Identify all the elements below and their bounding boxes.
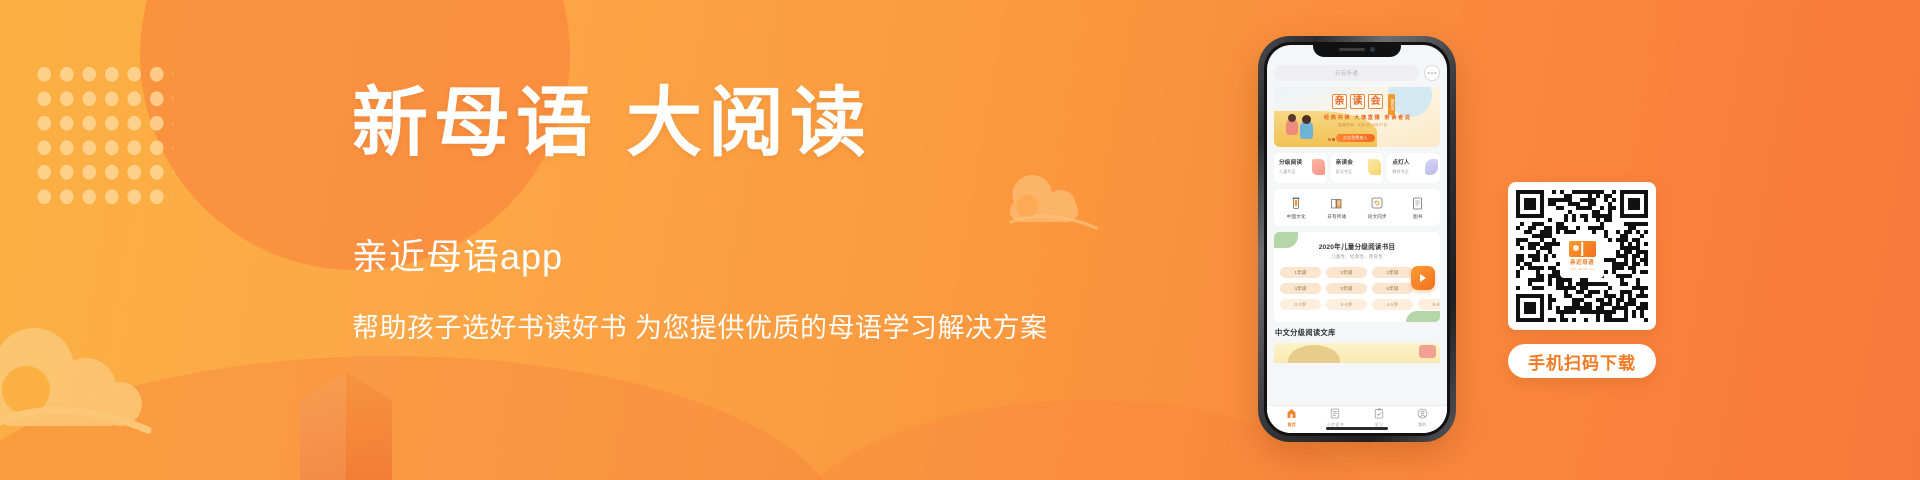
- category-card-parent-club[interactable]: 亲读会 家长专区: [1331, 153, 1384, 183]
- subtitle: 亲近母语app: [352, 228, 1048, 280]
- tagline: 帮助孩子选好书读好书 为您提供优质的母语学习解决方案: [352, 306, 1048, 345]
- quick-link-row: 中国文化 日有所诵: [1274, 189, 1440, 226]
- quick-link-label: 中国文化: [1287, 214, 1306, 220]
- library-card[interactable]: [1274, 343, 1440, 363]
- decorative-dot-grid: [33, 62, 173, 214]
- category-card-teacher[interactable]: 点灯人 教师专区: [1387, 153, 1440, 183]
- open-book-icon: [1330, 196, 1344, 210]
- tab-label: 首页: [1288, 422, 1296, 428]
- promo-banner: 新母语大阅读 亲近母语app 帮助孩子选好书读好书 为您提供优质的母语学习解决方…: [0, 0, 1920, 480]
- quick-link-chinese-culture[interactable]: 中国文化: [1276, 196, 1317, 220]
- age-chip[interactable]: 4-5岁: [1372, 299, 1413, 310]
- qr-logo-pinyin: QIN JIN MU YU: [1570, 267, 1594, 271]
- grade-chip[interactable]: 4年级: [1280, 283, 1321, 294]
- home-indicator: [1326, 427, 1388, 430]
- grade-chip[interactable]: 5年级: [1326, 283, 1367, 294]
- booklist-subtitle: 儿童性、经典性、教育性: [1280, 254, 1434, 260]
- hero-subtitle: 经典共读 大咖直播 亲读者说: [1324, 114, 1412, 121]
- library-card-badge: [1419, 345, 1436, 358]
- hero-title: 亲 读 会 第四季: [1332, 94, 1395, 115]
- tab-study[interactable]: 学习: [1357, 408, 1401, 428]
- hero-title-char-2: 读: [1350, 94, 1365, 109]
- list-icon: [1329, 408, 1341, 420]
- home-icon: [1286, 408, 1298, 420]
- hero-banner[interactable]: 亲 读 会 第四季 经典共读 大咖直播 亲读者说 直播时间：9月6日-9月27日…: [1274, 87, 1440, 147]
- library-section-title: 中文分级阅读文库: [1275, 328, 1440, 338]
- headline: 新母语大阅读: [352, 86, 1048, 162]
- hero-child-1: [1286, 119, 1298, 135]
- quick-link-label: 日有所诵: [1327, 214, 1346, 220]
- more-options-icon[interactable]: [1424, 65, 1440, 81]
- age-chip[interactable]: 0-3岁: [1280, 299, 1321, 310]
- decorative-hill-left: [0, 356, 840, 480]
- headline-part-1: 新母语: [352, 82, 598, 166]
- cloud-motif-bottom-left: [0, 326, 192, 446]
- category-cards: 分级阅读 儿童专区 亲读会 家长专区 点灯人 教师专区: [1274, 153, 1440, 183]
- hero-pager-dot-1: [1328, 138, 1331, 141]
- quick-link-books[interactable]: 图书: [1398, 196, 1439, 220]
- hero-title-char-3: 会: [1368, 94, 1383, 109]
- sync-icon: [1370, 196, 1384, 210]
- hero-pager-dot-2: [1332, 138, 1335, 141]
- decorative-cube: [300, 372, 392, 480]
- age-chip[interactable]: 5-6岁: [1418, 299, 1440, 310]
- tab-label: 我的: [1418, 422, 1426, 428]
- library-card-arc: [1288, 345, 1340, 363]
- hero-title-char-1: 亲: [1332, 94, 1347, 109]
- age-chip[interactable]: 3-4岁: [1326, 299, 1367, 310]
- user-icon: [1416, 408, 1428, 420]
- book-logo-icon: [1569, 241, 1596, 257]
- speaker-icon: [1339, 48, 1365, 51]
- tab-reading[interactable]: 小步读书: [1314, 408, 1358, 428]
- booklist-title: 2020年儿童分级阅读书目: [1280, 241, 1434, 251]
- scroll-icon: [1289, 196, 1303, 210]
- quick-link-textbook-sync[interactable]: 语文同步: [1357, 196, 1398, 220]
- qr-logo-name: 亲近母语: [1570, 258, 1594, 266]
- leaf-decor-bottom-right: [1406, 311, 1440, 322]
- phone-mockup: 日有所诵 亲 读 会 第四季: [1258, 36, 1456, 442]
- copy-block: 新母语大阅读 亲近母语app 帮助孩子选好书读好书 为您提供优质的母语学习解决方…: [352, 86, 1048, 345]
- card-decor-icon: [1425, 159, 1438, 175]
- grade-chip[interactable]: 6年级: [1372, 283, 1413, 294]
- search-placeholder: 日有所诵: [1335, 69, 1358, 77]
- clipboard-check-icon: [1373, 408, 1385, 420]
- search-input[interactable]: 日有所诵: [1274, 65, 1419, 81]
- play-icon: [1420, 274, 1426, 282]
- tab-home[interactable]: 首页: [1270, 408, 1314, 428]
- hero-date: 直播时间：9月6日-9月27日: [1338, 123, 1388, 128]
- booklist-section: 2020年儿童分级阅读书目 儿童性、经典性、教育性 1年级 2年级 3年级 4年…: [1274, 232, 1440, 322]
- grade-chip[interactable]: 1年级: [1280, 267, 1321, 278]
- tab-profile[interactable]: 我的: [1401, 408, 1445, 428]
- book-icon: [1411, 196, 1425, 210]
- hero-ribbon: 第四季: [1388, 94, 1395, 115]
- quick-link-label: 图书: [1413, 214, 1423, 220]
- grade-chip[interactable]: 2年级: [1326, 267, 1367, 278]
- age-chip-row: 0-3岁 3-4岁 4-5岁 5-6岁: [1280, 299, 1434, 310]
- quick-link-label: 语文同步: [1368, 214, 1387, 220]
- headline-part-2: 大阅读: [626, 82, 872, 166]
- download-button[interactable]: 手机扫码下载: [1508, 344, 1656, 378]
- phone-notch: [1313, 42, 1401, 57]
- qr-download-block: 亲近母语 QIN JIN MU YU 手机扫码下载: [1508, 182, 1656, 378]
- qr-code: 亲近母语 QIN JIN MU YU: [1508, 182, 1656, 330]
- camera-icon: [1370, 47, 1375, 52]
- hero-child-2: [1300, 121, 1313, 139]
- grade-chip[interactable]: 3年级: [1372, 267, 1413, 278]
- hero-cta-button[interactable]: 点击免费加入: [1336, 134, 1375, 142]
- qr-center-logo: 亲近母语 QIN JIN MU YU: [1560, 234, 1604, 278]
- card-decor-icon: [1312, 159, 1325, 175]
- card-decor-icon: [1368, 159, 1381, 175]
- search-row: 日有所诵: [1274, 65, 1440, 81]
- quick-link-daily-recite[interactable]: 日有所诵: [1317, 196, 1358, 220]
- category-card-graded-reading[interactable]: 分级阅读 儿童专区: [1274, 153, 1327, 183]
- phone-screen: 日有所诵 亲 读 会 第四季: [1267, 45, 1447, 433]
- video-play-button[interactable]: [1411, 266, 1435, 290]
